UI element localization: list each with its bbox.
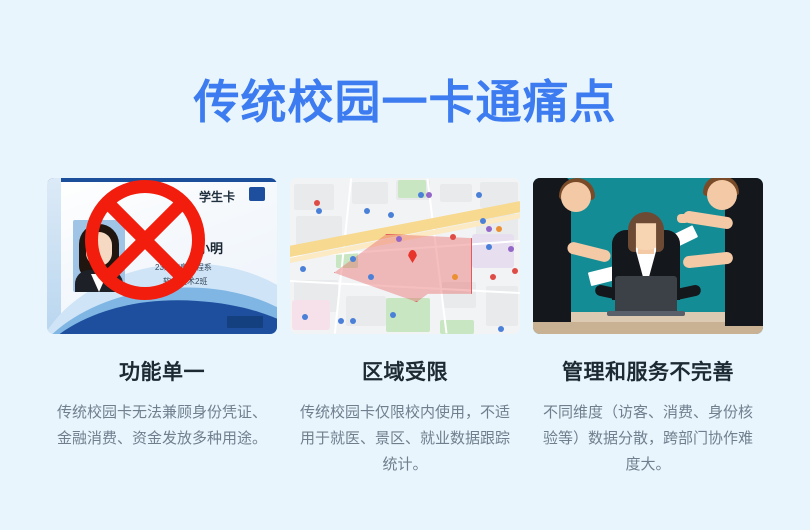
colleague-left-arm [566,241,612,263]
laptop-base [607,311,685,316]
map-poi-dot [452,274,458,280]
pain-point-card-list: 学生卡 小明 23级信息工程系 软件技术2班 功能单一 传统校园卡无法兼顾身份凭… [47,178,763,478]
slide-canvas: 传统校园一卡通痛点 学生卡 [0,0,810,530]
map-building-block [294,184,334,210]
student-card-title: 学生卡 [199,188,235,205]
map-poi-dot [388,212,394,218]
map-poi-dot [350,256,356,262]
card-heading: 功能单一 [119,356,205,386]
card-body-text: 不同维度（访客、消费、身份核验等）数据分散，跨部门协作难度大。 [541,400,755,478]
campus-boundary-map-graphic [290,178,520,334]
pointing-finger [677,214,689,223]
map-poi-dot [302,314,308,320]
map-special-area [292,300,330,330]
student-card-chip-icon [249,187,265,201]
map-poi-dot [368,274,374,280]
map-building-block [440,184,472,202]
card-heading: 管理和服务不完善 [562,356,734,386]
map-poi-dot [338,318,344,324]
office-illustration-graphic [533,178,763,334]
map-poi-dot [486,244,492,250]
map-poi-dot [450,234,456,240]
prohibition-cross-icon [85,180,205,300]
map-poi-dot [426,192,432,198]
card-image-student-card: 学生卡 小明 23级信息工程系 软件技术2班 [47,178,277,334]
card-image-map [290,178,520,334]
map-poi-dot [350,318,356,324]
map-poi-dot [300,266,306,272]
map-poi-dot [476,192,482,198]
student-card-top-bar [47,178,277,182]
pain-point-card: 区域受限 传统校园卡仅限校内使用，不适用于就医、景区、就业数据跟踪统计。 [290,178,520,478]
map-poi-dot [418,192,424,198]
colleague-left-head [561,182,591,212]
map-commercial-area [472,234,514,268]
laptop-screen [615,276,677,312]
page-title: 传统校园一卡通痛点 [0,74,810,130]
map-building-block [352,182,388,204]
map-poi-dot [364,208,370,214]
student-card-barcode [227,316,263,328]
card-body-text: 传统校园卡仅限校内使用，不适用于就医、景区、就业数据跟踪统计。 [298,400,512,478]
student-card-left-band [47,178,61,334]
map-poi-dot [396,236,402,242]
card-heading: 区域受限 [362,356,448,386]
map-poi-dot [508,246,514,252]
card-body-text: 传统校园卡无法兼顾身份凭证、金融消费、资金发放多种用途。 [55,400,269,452]
map-poi-dot [486,226,492,232]
pain-point-card: 管理和服务不完善 不同维度（访客、消费、身份核验等）数据分散，跨部门协作难度大。 [533,178,763,478]
map-poi-dot [490,274,496,280]
colleague-right-head [707,180,737,210]
card-image-office-illustration [533,178,763,334]
map-poi-dot [316,208,322,214]
map-poi-dot [480,218,486,224]
pain-point-card: 学生卡 小明 23级信息工程系 软件技术2班 功能单一 传统校园卡无法兼顾身份凭… [47,178,277,478]
map-poi-dot [512,268,518,274]
map-poi-dot [314,200,320,206]
map-poi-dot [498,326,504,332]
map-poi-dot [390,312,396,318]
map-poi-dot [496,226,502,232]
